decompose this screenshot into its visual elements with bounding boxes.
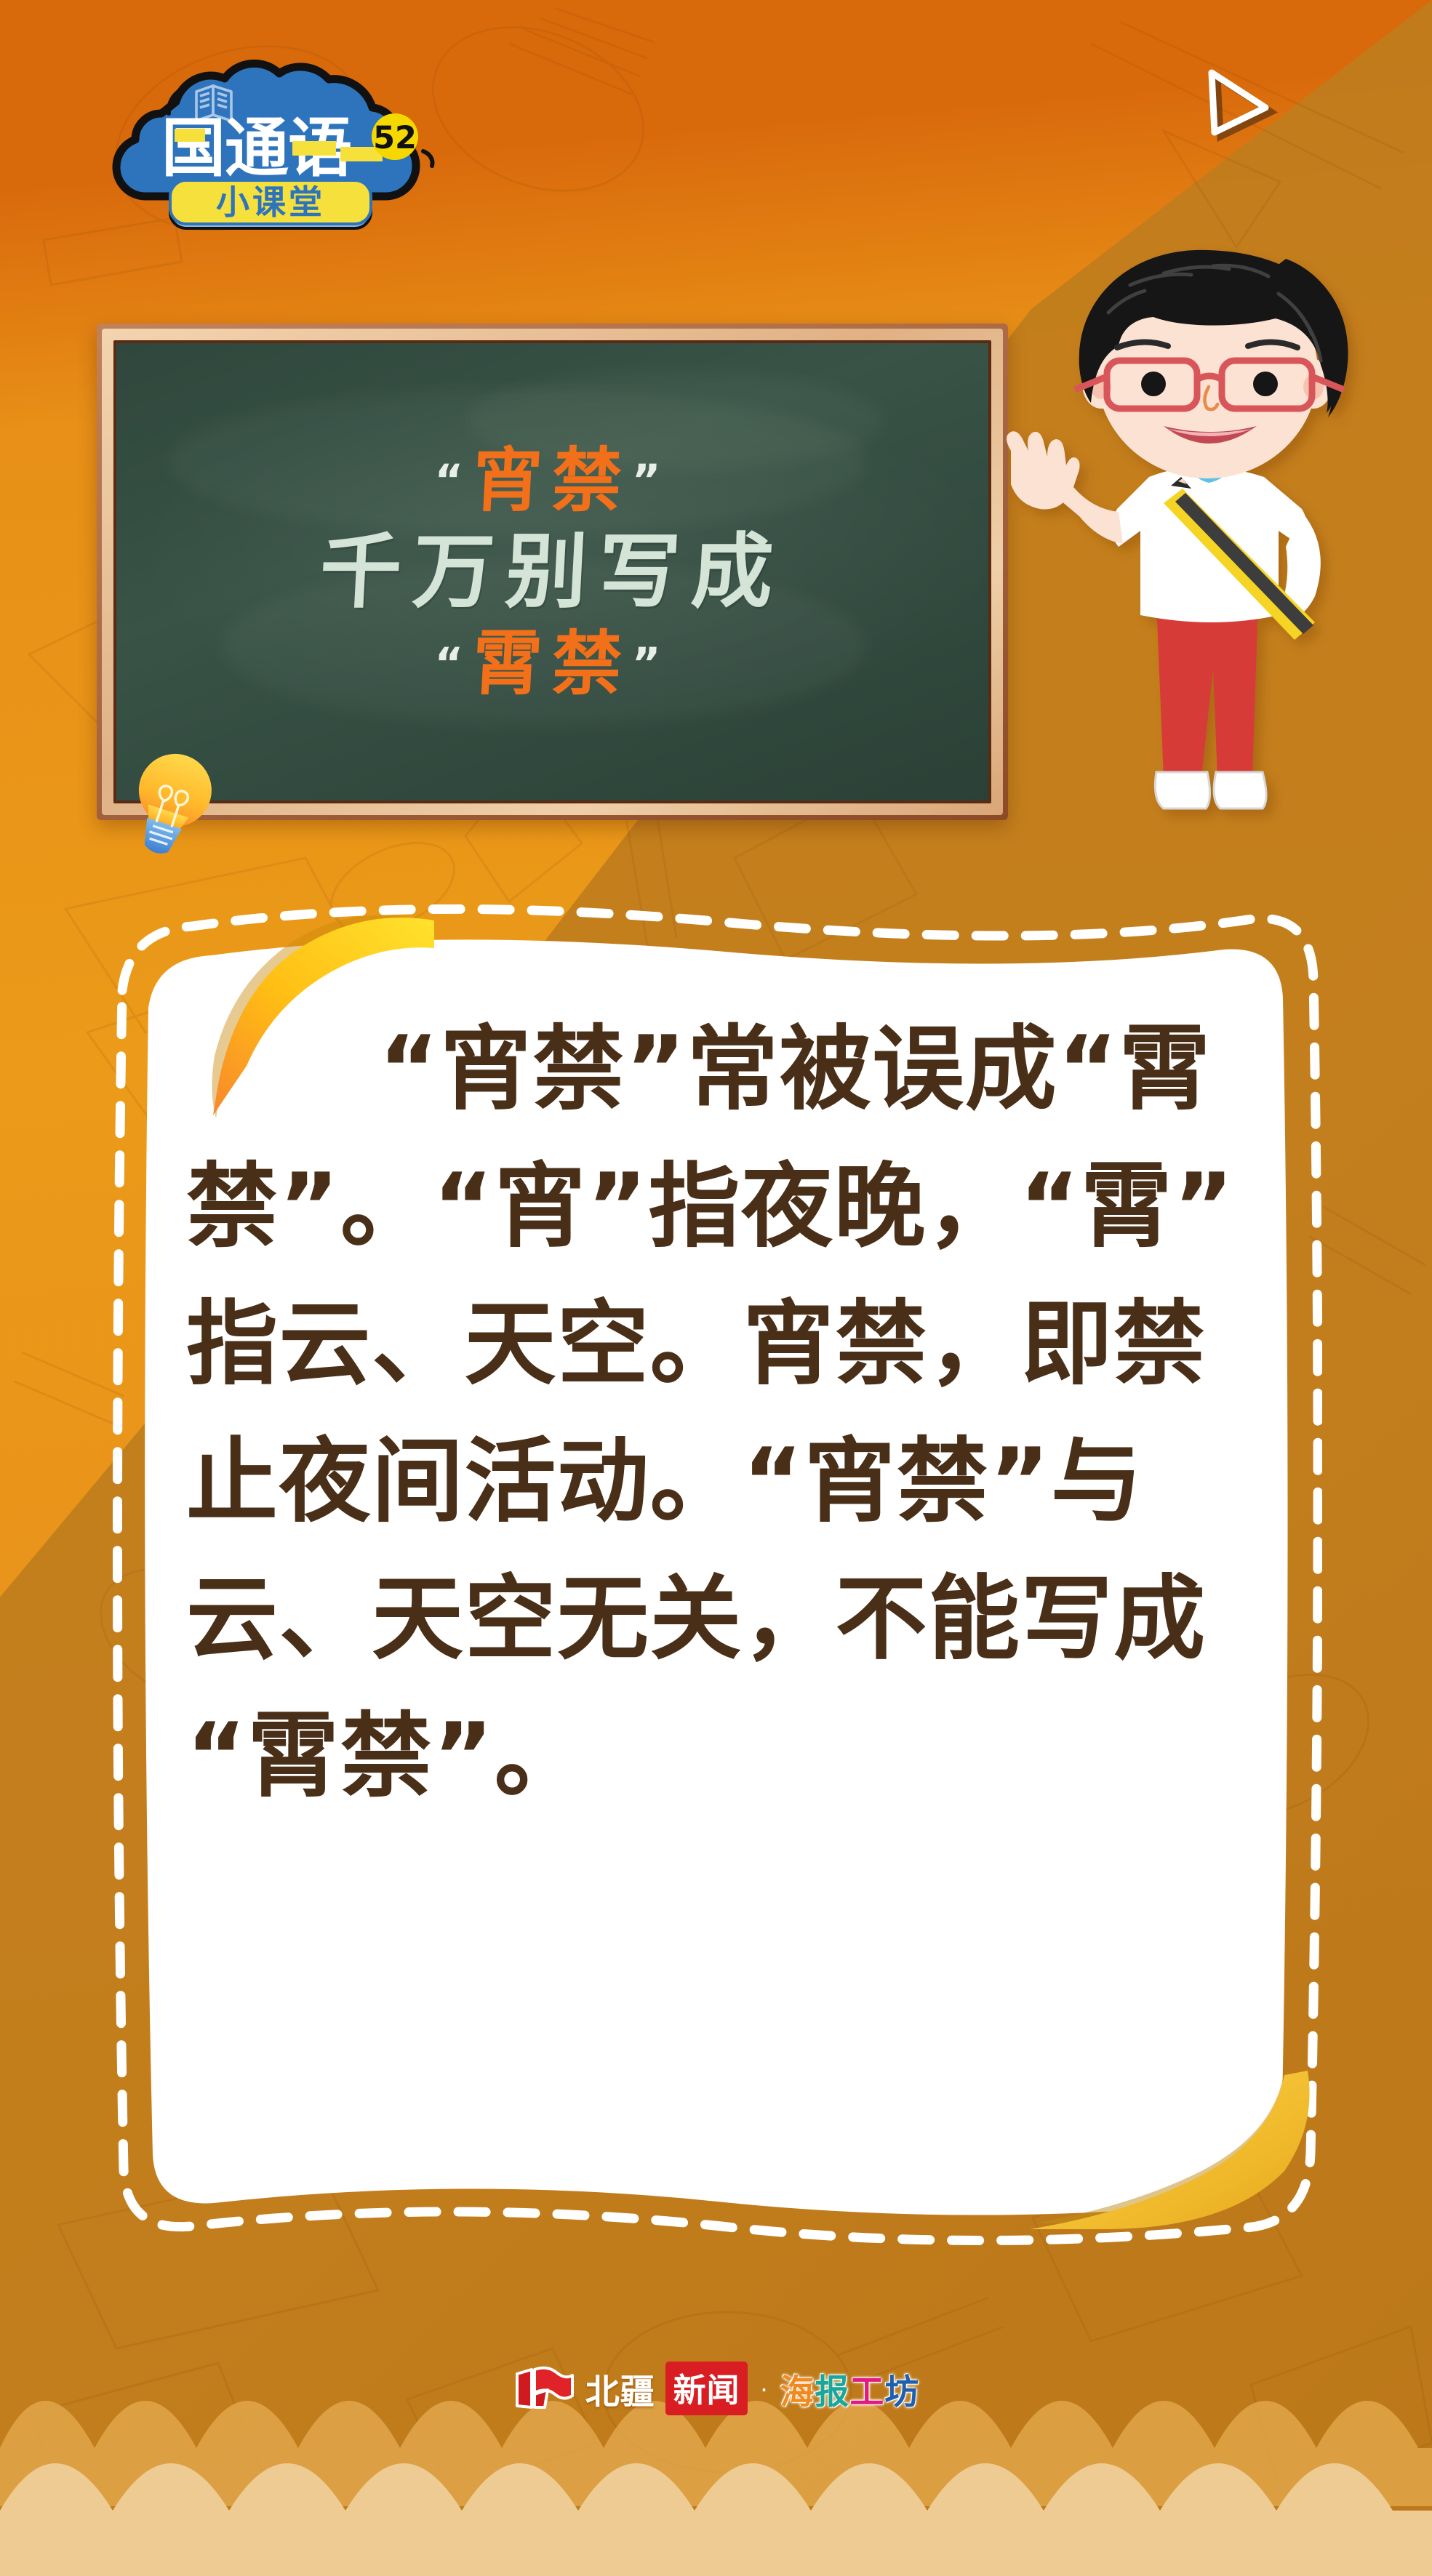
blackboard-line-2-text: 千万别写成 (318, 524, 787, 619)
ribbon-bottom-right (1030, 2071, 1321, 2252)
mascot-pants (1156, 602, 1258, 778)
blackboard-line-1-text: 宵禁 (471, 439, 634, 521)
blackboard-line-1: “宵禁” (433, 446, 672, 515)
blackboard-line-3-text: 霄禁 (471, 622, 634, 705)
workshop-char-3: 工 (849, 2372, 884, 2412)
red-flag-icon (513, 2365, 575, 2412)
workshop-char-2: 报 (815, 2372, 849, 2412)
mascot-head (1075, 250, 1348, 478)
quote-close-3: ” (631, 638, 671, 689)
svg-text:小课堂: 小课堂 (216, 182, 325, 222)
quote-open-3: “ (433, 638, 474, 689)
quote-open-1: “ (433, 455, 474, 505)
play-triangle-icon[interactable] (1199, 67, 1279, 147)
workshop-char-4: 坊 (884, 2372, 919, 2412)
footer-outlet-name: 北疆 (585, 2364, 655, 2414)
mascot-student-boy (973, 218, 1432, 916)
card-body-text: “宵禁”常被误成“霄禁”。“宵”指夜晚，“霄”指云、天空。宵禁，即禁止夜间活动。… (186, 1000, 1248, 1825)
blackboard-frame: “宵禁” 千万别写成 “霄禁” (102, 329, 1003, 815)
logo-sub-pill: 小课堂 (170, 180, 371, 228)
quote-close-1: ” (631, 455, 671, 505)
blackboard-line-3: “霄禁” (433, 629, 672, 699)
poster-root: 国通语 52 小课堂 (0, 0, 1432, 2576)
content-card: “宵禁”常被误成“霄禁”。“宵”指夜晚，“霄”指云、天空。宵禁，即禁止夜间活动。… (135, 915, 1297, 2229)
mascot-shoes (1155, 772, 1266, 808)
blackboard-surface: “宵禁” 千万别写成 “霄禁” (113, 340, 991, 803)
svg-text:52: 52 (373, 120, 417, 156)
blackboard-line-2: 千万别写成 (318, 531, 786, 613)
logo-episode-badge: 52 (372, 113, 418, 160)
footer-news-tag: 新闻 (665, 2362, 748, 2415)
footer-brand[interactable]: 北疆 新闻 · 海报工坊 (0, 2362, 1432, 2415)
logo-main-text: 国通语 (161, 111, 383, 185)
footer-workshop-label: 海报工坊 (780, 2364, 919, 2414)
footer-separator: · (759, 2375, 768, 2402)
workshop-char-1: 海 (780, 2372, 815, 2412)
blackboard: “宵禁” 千万别写成 “霄禁” (97, 324, 1008, 820)
scallop-layer-2 (0, 2431, 1432, 2576)
brand-logo[interactable]: 国通语 52 小课堂 (95, 60, 436, 234)
